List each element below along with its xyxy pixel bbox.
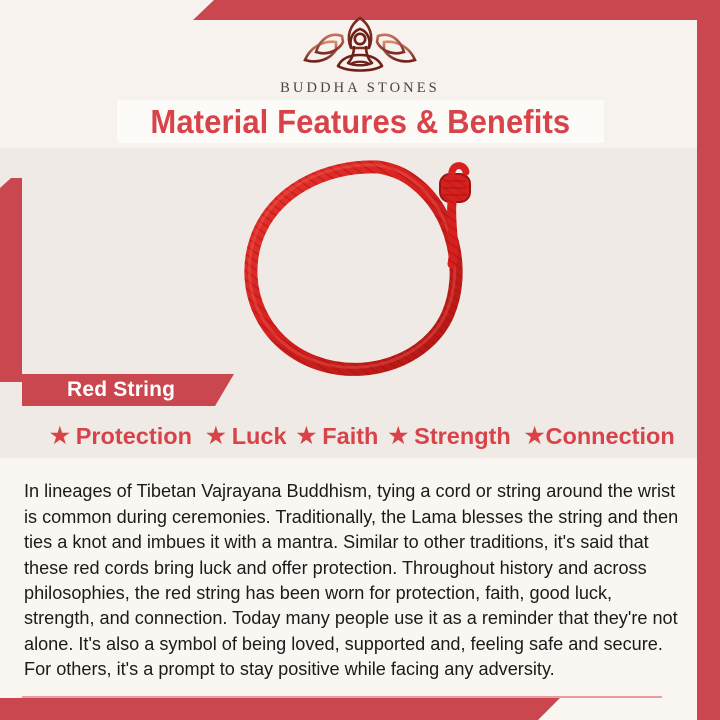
material-name-label: Red String xyxy=(67,378,175,402)
star-icon: ★ xyxy=(206,425,226,447)
benefit-label: Luck xyxy=(232,423,287,450)
decor-bar-bottom xyxy=(0,698,560,720)
brand-name: BUDDHA STONES xyxy=(0,80,720,97)
benefit-label: Connection xyxy=(546,423,675,450)
benefit-item-protection: ★ Protection xyxy=(50,423,192,450)
decor-bar-left xyxy=(0,178,22,382)
benefit-item-strength: ★ Strength xyxy=(388,423,510,450)
star-icon: ★ xyxy=(50,425,70,447)
decor-bar-right xyxy=(697,20,720,720)
benefit-label: Faith xyxy=(322,423,378,450)
benefit-item-connection: ★ Connection xyxy=(525,423,675,450)
benefit-label: Strength xyxy=(414,423,511,450)
benefit-item-faith: ★ Faith xyxy=(297,423,379,450)
brand-logo: BUDDHA STONES xyxy=(0,14,720,97)
material-name-ribbon: Red String xyxy=(22,374,234,406)
lotus-meditation-figure-icon xyxy=(294,14,426,78)
product-image-red-string-bracelet xyxy=(228,152,504,380)
star-icon: ★ xyxy=(525,425,545,447)
page-title: Material Features & Benefits xyxy=(151,105,571,138)
red-braided-cord-illustration xyxy=(228,152,504,380)
star-icon: ★ xyxy=(388,425,408,447)
decor-hairline-bottom xyxy=(22,696,662,698)
cord-knot xyxy=(440,166,470,202)
description-paragraph: In lineages of Tibetan Vajrayana Buddhis… xyxy=(24,478,682,681)
benefit-label: Protection xyxy=(76,423,192,450)
material-features-infographic: BUDDHA STONES Material Features & Benefi… xyxy=(0,0,720,720)
star-icon: ★ xyxy=(297,425,317,447)
benefit-keyword-list: ★ Protection ★ Luck ★ Faith ★ Strength ★… xyxy=(50,420,690,452)
benefit-item-luck: ★ Luck xyxy=(206,423,287,450)
page-title-band: Material Features & Benefits xyxy=(117,100,604,143)
